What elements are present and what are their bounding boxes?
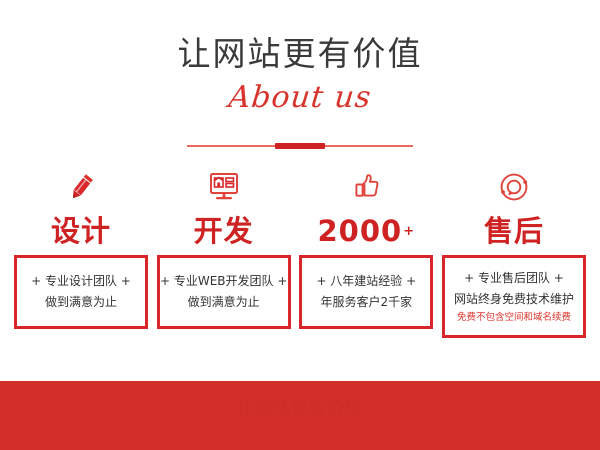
- about-us-page: 让网站更有价值 About us 设计: [0, 0, 600, 450]
- title-divider: [187, 143, 413, 149]
- feature-heading-text: 售后: [484, 217, 544, 246]
- page-title: 让网站更有价值: [0, 34, 600, 74]
- feature-line: 年服务客户2千家: [320, 292, 412, 313]
- bottom-banner: 让网站更有价值: [0, 381, 600, 450]
- feature-line: 做到满意为止: [45, 292, 117, 313]
- feature-line: 做到满意为止: [188, 292, 260, 313]
- feature-heading-aftersales: 售后: [484, 210, 544, 252]
- divider-center-bar: [275, 143, 325, 149]
- feature-column-aftersales: 售后 + 专业售后团队 + 网站终身免费技术维护 免费不包含空间和域名续费: [442, 166, 586, 338]
- feature-column-development: 开发 + 专业WEB开发团队 + 做到满意为止: [157, 166, 291, 329]
- feature-heading-experience: 2000+: [318, 210, 416, 252]
- feature-heading-design: 设计: [51, 210, 111, 252]
- feature-line: + 专业售后团队 +: [464, 268, 564, 289]
- feature-heading-text: 2000: [318, 217, 403, 246]
- feature-box-experience: + 八年建站经验 + 年服务客户2千家: [299, 255, 433, 329]
- page-subtitle-script: About us: [0, 80, 600, 116]
- feature-column-design: 设计 + 专业设计团队 + 做到满意为止: [14, 166, 148, 329]
- feature-box-design: + 专业设计团队 + 做到满意为止: [14, 255, 148, 329]
- banner-watermark-text: 让网站更有价值: [0, 397, 600, 421]
- feature-box-aftersales: + 专业售后团队 + 网站终身免费技术维护 免费不包含空间和域名续费: [442, 255, 586, 338]
- feature-line: + 八年建站经验 +: [316, 271, 416, 292]
- feature-column-experience: 2000+ + 八年建站经验 + 年服务客户2千家: [299, 166, 433, 329]
- feature-heading-development: 开发: [194, 210, 254, 252]
- pencil-icon: [66, 166, 96, 208]
- feature-line: 网站终身免费技术维护: [454, 289, 574, 310]
- page-header: 让网站更有价值 About us: [0, 34, 600, 116]
- feature-heading-superscript: +: [403, 225, 415, 238]
- monitor-icon: [208, 166, 240, 208]
- feature-line: + 专业设计团队 +: [31, 271, 131, 292]
- feature-box-development: + 专业WEB开发团队 + 做到满意为止: [157, 255, 291, 329]
- feature-heading-text: 开发: [194, 217, 254, 246]
- support-circle-icon: [498, 166, 530, 208]
- feature-heading-text: 设计: [51, 217, 111, 246]
- feature-line: + 专业WEB开发团队 +: [160, 271, 287, 292]
- feature-note: 免费不包含空间和域名续费: [457, 310, 571, 325]
- thumbs-up-icon: [350, 166, 382, 208]
- feature-columns: 设计 + 专业设计团队 + 做到满意为止: [14, 166, 586, 338]
